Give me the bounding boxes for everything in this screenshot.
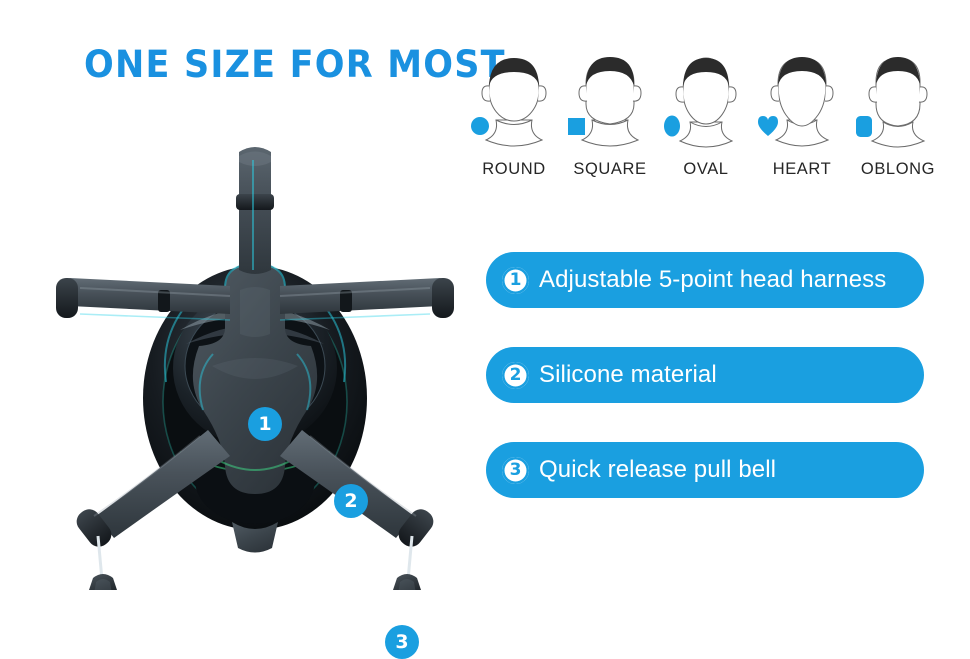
face-shape-label: HEART bbox=[773, 160, 832, 179]
feature-pill-list: 1 Adjustable 5-point head harness 2 Sili… bbox=[486, 252, 924, 537]
feature-pill-2[interactable]: 2 Silicone material bbox=[486, 347, 924, 403]
face-square-illustration bbox=[562, 42, 658, 154]
face-round-illustration bbox=[466, 42, 562, 154]
face-oval-illustration bbox=[658, 42, 754, 154]
feature-pill-1[interactable]: 1 Adjustable 5-point head harness bbox=[486, 252, 924, 308]
face-shape-item-heart: HEART bbox=[754, 42, 850, 179]
callout-badge-2[interactable]: 2 bbox=[334, 484, 368, 518]
face-oblong-illustration bbox=[850, 42, 946, 154]
face-shape-label: OVAL bbox=[683, 160, 728, 179]
face-shape-label: SQUARE bbox=[573, 160, 646, 179]
rounded-rect-badge-icon bbox=[856, 116, 872, 137]
face-shape-item-oval: OVAL bbox=[658, 42, 754, 179]
face-shape-item-oblong: OBLONG bbox=[850, 42, 946, 179]
ellipse-badge-icon bbox=[664, 116, 680, 137]
top-strap-buckle bbox=[236, 194, 274, 210]
callout-badge-1[interactable]: 1 bbox=[248, 407, 282, 441]
respirator-mask-illustration bbox=[40, 130, 470, 590]
feature-label: Quick release pull bell bbox=[539, 456, 776, 484]
heart-badge-icon bbox=[758, 116, 778, 136]
feature-pill-3[interactable]: 3 Quick release pull bell bbox=[486, 442, 924, 498]
face-shape-item-round: ROUND bbox=[466, 42, 562, 179]
circle-badge-icon bbox=[471, 117, 489, 135]
page-title: ONE SIZE FOR MOST bbox=[84, 44, 506, 86]
right-strap-end-tab bbox=[432, 278, 454, 318]
face-shape-label: ROUND bbox=[482, 160, 546, 179]
top-head-strap bbox=[236, 147, 274, 274]
feature-label: Silicone material bbox=[539, 361, 717, 389]
face-shape-item-square: SQUARE bbox=[562, 42, 658, 179]
feature-number-badge: 3 bbox=[502, 457, 529, 484]
left-strap-end-tab bbox=[56, 278, 78, 318]
face-shape-label: OBLONG bbox=[861, 160, 935, 179]
face-shape-row: ROUND SQUARE bbox=[466, 42, 946, 192]
feature-label: Adjustable 5-point head harness bbox=[539, 266, 886, 294]
callout-badge-3[interactable]: 3 bbox=[385, 625, 419, 659]
feature-number-badge: 1 bbox=[502, 267, 529, 294]
face-heart-illustration bbox=[754, 42, 850, 154]
product-image: 1 2 3 bbox=[40, 130, 470, 590]
feature-number-badge: 2 bbox=[502, 362, 529, 389]
square-badge-icon bbox=[568, 118, 585, 135]
